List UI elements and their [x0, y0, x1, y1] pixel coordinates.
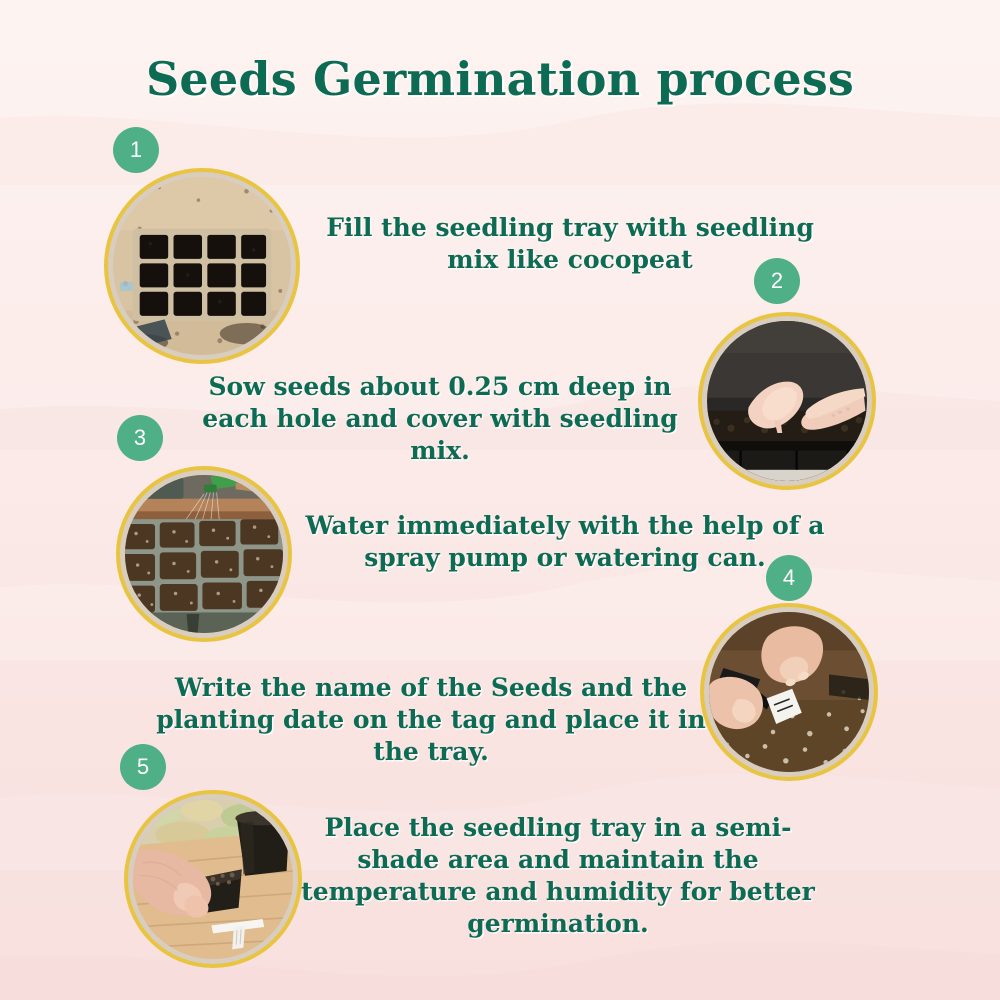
step-photo-2 [698, 312, 876, 490]
step-photo-3 [116, 466, 292, 642]
step-badge-2: 2 [754, 258, 800, 304]
step-badge-5-number: 5 [137, 754, 149, 780]
writing-on-plant-tag-photo [709, 612, 869, 772]
step-caption-3: Water immediately with the help of a spr… [285, 510, 845, 574]
step-caption-4: Write the name of the Seeds and the plan… [150, 672, 712, 768]
page-title: Seeds Germination process [0, 52, 1000, 106]
step-badge-5: 5 [120, 744, 166, 790]
infographic-poster: Seeds Germination process 1 [0, 0, 1000, 1000]
step-badge-3: 3 [117, 415, 163, 461]
step-badge-3-number: 3 [134, 425, 146, 451]
step-photo-4 [700, 603, 878, 781]
step-badge-1: 1 [113, 127, 159, 173]
hands-sowing-seeds-photo [707, 321, 867, 481]
step-badge-4: 4 [766, 555, 812, 601]
seedling-tray-filled-with-soil-photo [113, 177, 291, 355]
step-photo-5 [124, 790, 302, 968]
step-badge-2-number: 2 [771, 268, 783, 294]
step-caption-2: Sow seeds about 0.25 cm deep in each hol… [180, 371, 700, 467]
step-badge-4-number: 4 [783, 565, 795, 591]
step-photo-1 [104, 168, 300, 364]
step-caption-5: Place the seedling tray in a semi-shade … [300, 812, 816, 940]
placing-seedling-pot-on-table-photo [133, 799, 293, 959]
step-badge-1-number: 1 [130, 137, 142, 163]
spraying-water-on-tray-photo [125, 475, 283, 633]
